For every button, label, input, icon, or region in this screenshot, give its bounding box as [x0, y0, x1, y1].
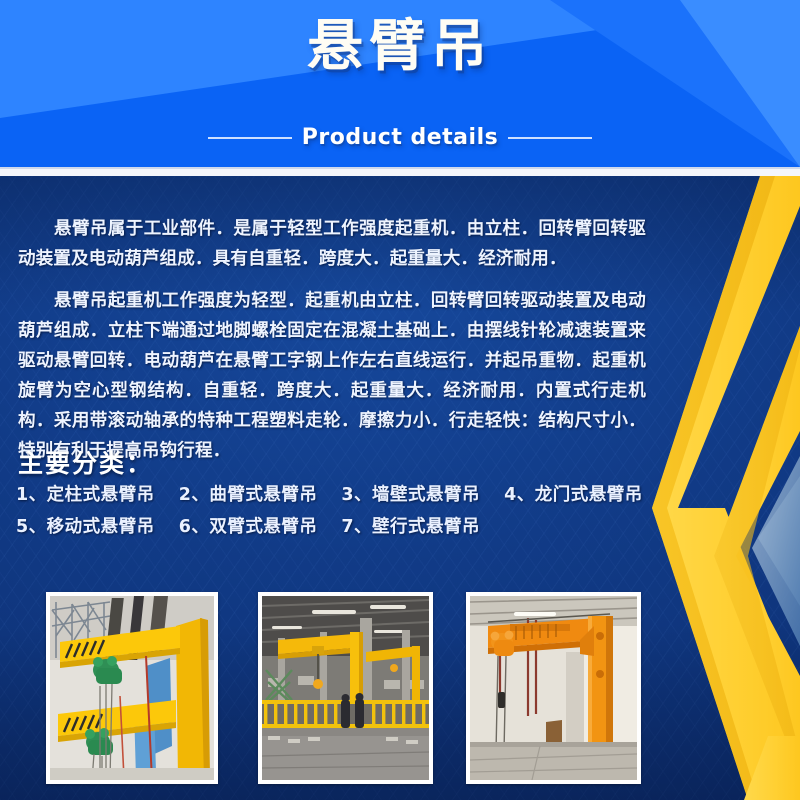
product-photo-strip [0, 590, 680, 790]
page-subtitle: Product details [302, 125, 498, 150]
description-paragraph-1: 悬臂吊属于工业部件．是属于轻型工作强度起重机．由立柱．回转臂回转驱动装置及电动葫… [18, 214, 646, 274]
description-paragraph-2: 悬臂吊起重机工作强度为轻型．起重机由立柱．回转臂回转驱动装置及电动葫芦组成．立柱… [18, 286, 646, 466]
subtitle-rule-left [208, 137, 292, 139]
category-item-7: 7、壁行式悬臂吊 [341, 513, 480, 538]
categories-row-2: 5、移动式悬臂吊 6、双臂式悬臂吊 7、壁行式悬臂吊 [16, 513, 646, 538]
categories-row-1: 1、定柱式悬臂吊 2、曲臂式悬臂吊 3、墙壁式悬臂吊 4、龙门式悬臂吊 [16, 481, 646, 506]
category-item-3: 3、墙壁式悬臂吊 [341, 481, 480, 506]
product-photo-3[interactable] [466, 592, 641, 784]
category-item-5: 5、移动式悬臂吊 [16, 513, 155, 538]
banner-header: 悬臂吊 Product details [0, 0, 800, 167]
category-item-1: 1、定柱式悬臂吊 [16, 481, 155, 506]
product-photo-1[interactable] [46, 592, 218, 784]
product-photo-2[interactable] [258, 592, 433, 784]
category-item-6: 6、双臂式悬臂吊 [179, 513, 318, 538]
product-detail-banner: 悬臂吊 Product details [0, 0, 800, 800]
category-item-4: 4、龙门式悬臂吊 [504, 481, 643, 506]
product-photo-1-image [50, 596, 214, 780]
header-separator [0, 167, 800, 176]
product-photo-3-image [470, 596, 637, 780]
categories-heading: 主要分类： [18, 444, 153, 480]
page-title: 悬臂吊 [0, 16, 800, 78]
category-item-2: 2、曲臂式悬臂吊 [179, 481, 318, 506]
subtitle-rule-right [508, 137, 592, 139]
subtitle-group: Product details [0, 125, 800, 150]
product-photo-2-image [262, 596, 429, 780]
